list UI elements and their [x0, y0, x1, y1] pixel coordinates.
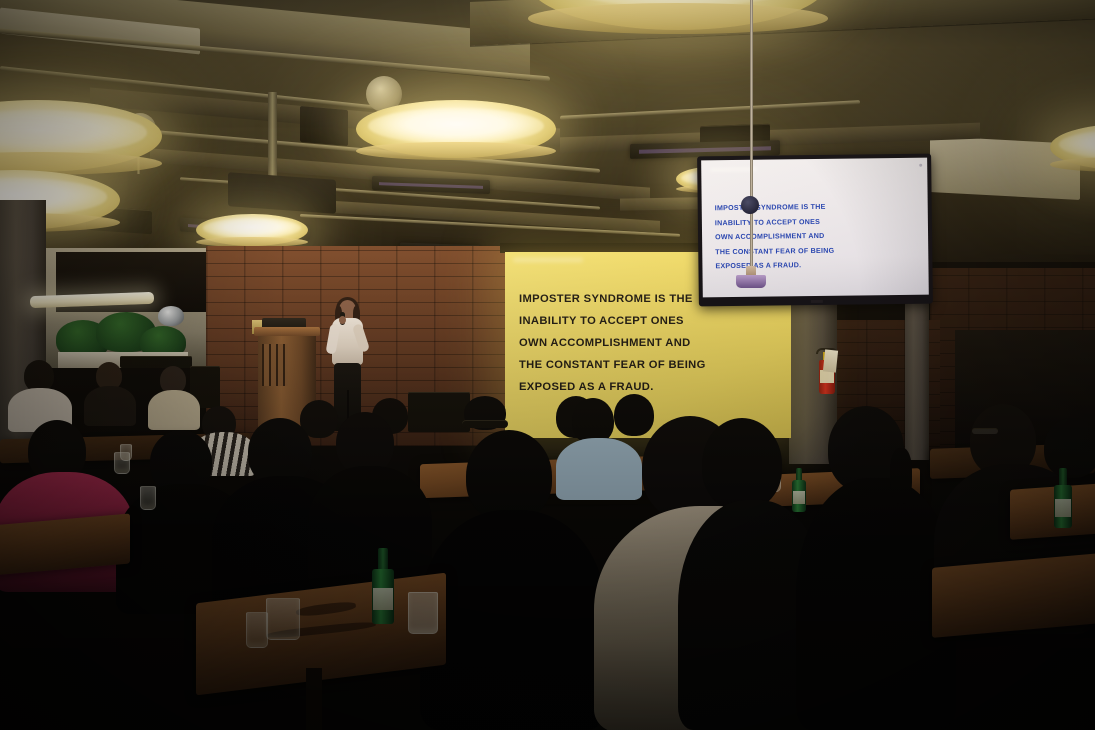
bottle-right-fg: [1054, 468, 1072, 528]
eyeglasses-icon: [972, 428, 998, 434]
tv-logo-mark-icon: [811, 300, 823, 303]
glass-right-fg: [140, 486, 156, 510]
slide-line-5: EXPOSED AS A FRAUD.: [519, 376, 771, 398]
slide-line-3: OWN ACCOMPLISHMENT AND: [519, 332, 771, 354]
projector-mount-pole: [268, 92, 277, 176]
fg-body-center-3: [420, 510, 606, 730]
fg-head-right-1: [702, 418, 782, 510]
glass-foreground-1: [266, 598, 300, 640]
fg-head-center-3: [466, 430, 552, 522]
slide-line-2: INABILITY TO ACCEPT ONES: [519, 310, 771, 332]
pendant-light-top-right: [1050, 124, 1095, 170]
hanging-light-cord: [750, 0, 753, 284]
fg-body-center-2: [308, 466, 432, 590]
pa-speaker-ceiling: [300, 106, 348, 146]
pendant-light-top-center: [528, 0, 828, 30]
background-chair-1: [408, 392, 470, 432]
background-shelf-left: [120, 356, 192, 368]
fg-head-center-2: [336, 412, 394, 474]
hanging-cord-knot: [741, 196, 759, 214]
cup-foreground-paper: [408, 592, 438, 634]
table-leg-1: [306, 668, 322, 730]
bg-person-shoulders-2: [84, 386, 136, 426]
pendant-light-upper-left: [0, 100, 162, 172]
glass-left-fg: [114, 452, 130, 474]
bg-person-shoulders-3: [148, 390, 200, 430]
bottle-mid-1: [792, 468, 806, 512]
tv-corner-marker-icon: [919, 164, 922, 167]
pendant-light-center: [356, 100, 556, 158]
event-space-photo: IMPOSTER SYNDROME IS THE INABILITY TO AC…: [0, 0, 1095, 730]
audience-cap-brim-icon: [462, 420, 508, 428]
foreground-table-far-right: [1010, 482, 1095, 540]
dome-pendant-lamp: [158, 306, 184, 326]
audience-blue-shirt-body: [556, 438, 642, 500]
fg-ponytail-hair: [890, 448, 912, 504]
wall-mounted-tv: IMPOSTER SYNDROME IS THE INABILITY TO AC…: [697, 154, 933, 307]
audience-head-2: [614, 394, 654, 436]
fire-extinguisher: [815, 346, 841, 398]
foreground-table-right: [932, 552, 1095, 638]
bottle-foreground-1: [372, 548, 394, 624]
pendant-light-mid-left: [196, 214, 308, 246]
slide-line-4: THE CONSTANT FEAR OF BEING: [519, 354, 771, 376]
screen-glare: [513, 258, 583, 262]
glass-foreground-2: [246, 612, 268, 648]
hanging-lamp-fixture: [736, 266, 766, 288]
